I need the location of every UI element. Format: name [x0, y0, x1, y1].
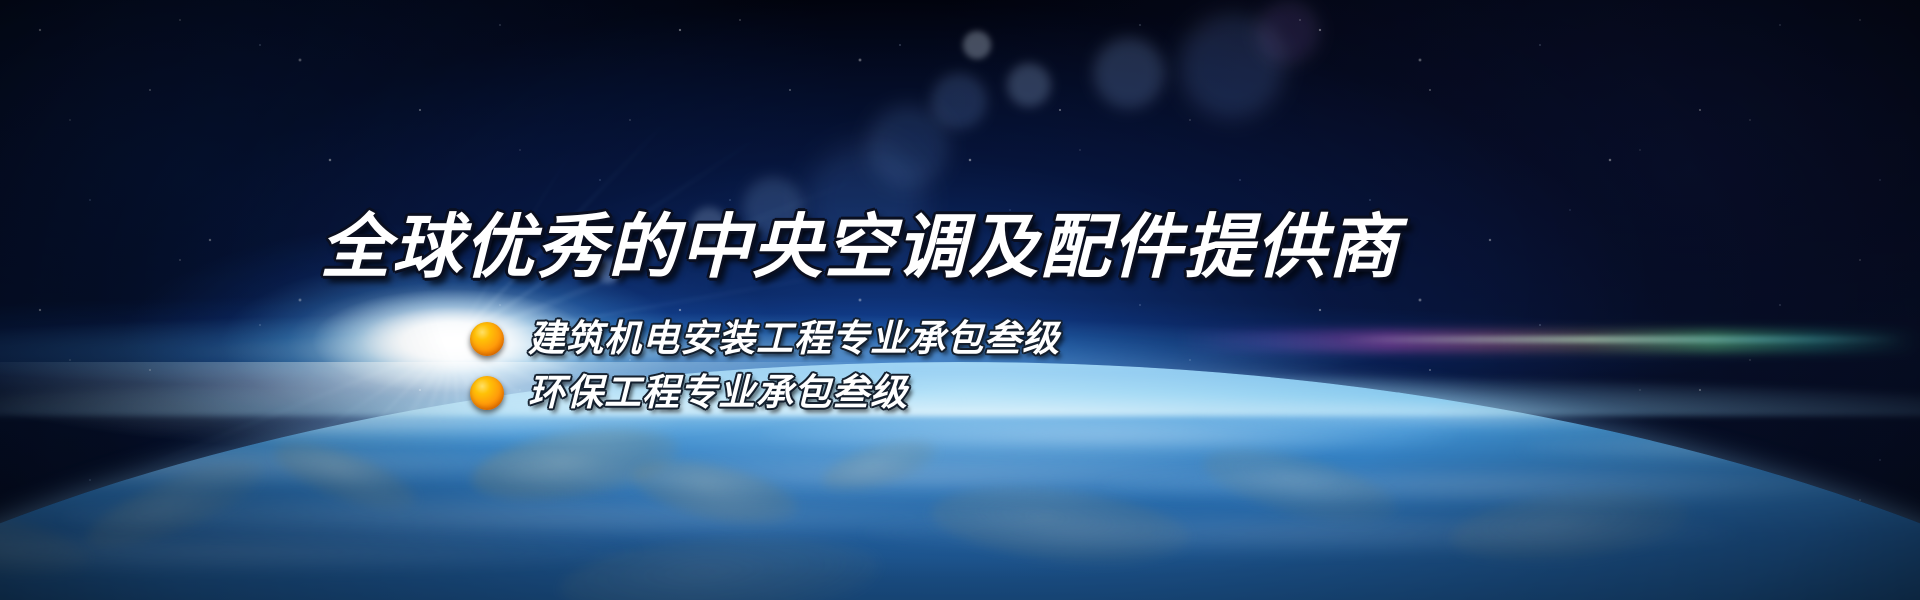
bullet-item-2-label: 环保工程专业承包叁级	[528, 372, 908, 414]
banner-content: 全球优秀的中央空调及配件提供商 建筑机电安装工程专业承包叁级 环保工程专业承包叁…	[0, 0, 1920, 600]
orange-bullet-dot-icon	[470, 376, 504, 410]
orange-bullet-dot-icon	[470, 322, 504, 356]
banner-headline: 全球优秀的中央空调及配件提供商	[0, 208, 1720, 286]
banner-bullet-list: 建筑机电安装工程专业承包叁级 环保工程专业承包叁级	[0, 312, 1720, 420]
hero-banner: 全球优秀的中央空调及配件提供商 建筑机电安装工程专业承包叁级 环保工程专业承包叁…	[0, 0, 1920, 600]
bullet-item-1: 建筑机电安装工程专业承包叁级	[0, 312, 1720, 366]
bullet-item-2: 环保工程专业承包叁级	[0, 366, 1720, 420]
bullet-item-1-label: 建筑机电安装工程专业承包叁级	[528, 318, 1060, 360]
